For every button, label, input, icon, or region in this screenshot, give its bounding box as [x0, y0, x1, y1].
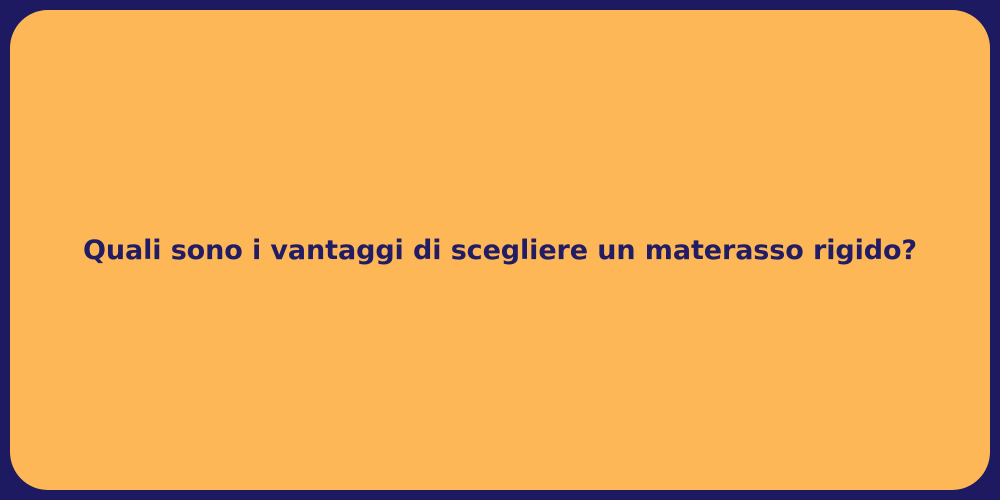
- banner-frame: Quali sono i vantaggi di scegliere un ma…: [0, 0, 1000, 500]
- banner-card: Quali sono i vantaggi di scegliere un ma…: [10, 10, 990, 490]
- headline-text: Quali sono i vantaggi di scegliere un ma…: [83, 234, 917, 268]
